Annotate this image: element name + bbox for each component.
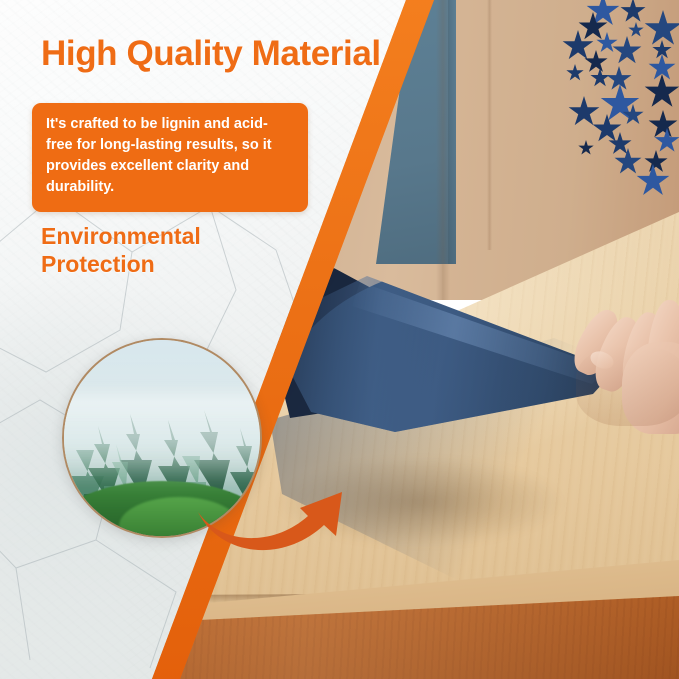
hand-lifting-paper xyxy=(576,286,679,426)
wall-seam xyxy=(487,0,492,250)
curved-arrow-up-right-icon xyxy=(196,486,356,556)
subheading-line-1: Environmental xyxy=(41,222,201,250)
subheading: Environmental Protection xyxy=(41,222,201,278)
feature-callout-box: It's crafted to be lignin and acid-free … xyxy=(32,103,308,212)
star-icon xyxy=(592,114,622,144)
hand-shadow xyxy=(576,346,679,426)
subheading-line-2: Protection xyxy=(41,250,201,278)
star-icon xyxy=(614,148,642,176)
page-title: High Quality Material xyxy=(41,34,381,74)
star-icon xyxy=(612,36,642,66)
star-icon xyxy=(568,96,600,128)
star-icon xyxy=(644,150,668,174)
product-infographic: High Quality Material It's crafted to be… xyxy=(0,0,679,679)
star-icon xyxy=(628,22,644,38)
star-icon xyxy=(644,74,679,110)
wall-corner-shadow xyxy=(436,0,450,300)
star-icon xyxy=(584,50,608,74)
callout-text: It's crafted to be lignin and acid-free … xyxy=(46,114,294,199)
star-wall-art xyxy=(548,0,679,192)
star-icon xyxy=(566,64,584,82)
star-icon xyxy=(578,140,594,156)
star-icon xyxy=(620,0,646,24)
star-icon xyxy=(648,110,678,140)
star-icon xyxy=(590,68,610,88)
